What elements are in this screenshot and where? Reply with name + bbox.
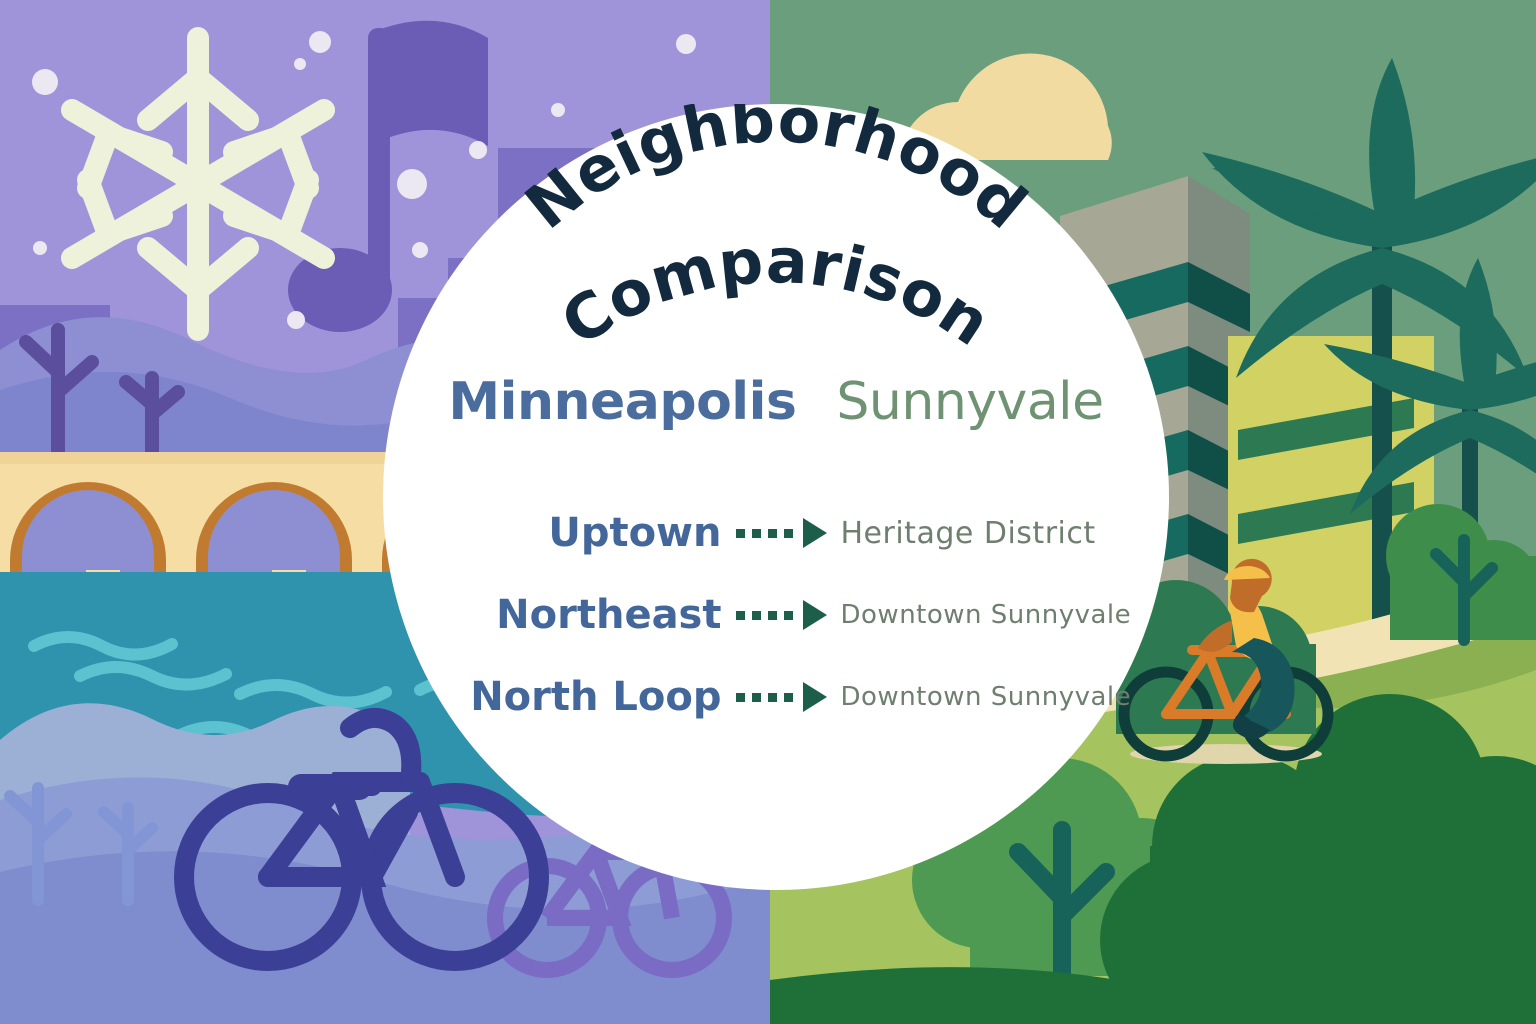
- dashed-arrow-icon: [736, 600, 827, 630]
- city-right-label: Sunnyvale: [836, 372, 1103, 432]
- dashed-arrow-icon: [736, 518, 827, 548]
- neighborhood-left: Northeast: [406, 592, 736, 638]
- poster-canvas: Neighborhood Comparison Minneapolis Sunn…: [0, 0, 1536, 1024]
- comparison-row[interactable]: Uptown Heritage District: [383, 492, 1169, 574]
- comparison-row[interactable]: North Loop Downtown Sunnyvale: [383, 656, 1169, 738]
- comparison-row[interactable]: Northeast Downtown Sunnyvale: [383, 574, 1169, 656]
- dashed-arrow-icon: [736, 682, 827, 712]
- neighborhood-right: Downtown Sunnyvale: [827, 682, 1147, 712]
- neighborhood-right: Heritage District: [827, 516, 1147, 551]
- bicycle-seat: [288, 774, 372, 800]
- city-headers: Minneapolis Sunnyvale: [383, 372, 1169, 432]
- city-left-label: Minneapolis: [448, 372, 796, 432]
- neighborhood-left: Uptown: [406, 510, 736, 556]
- neighborhood-right: Downtown Sunnyvale: [827, 600, 1147, 630]
- neighborhood-left: North Loop: [406, 674, 736, 720]
- comparison-list: Uptown Heritage District Northeast Downt…: [383, 492, 1169, 738]
